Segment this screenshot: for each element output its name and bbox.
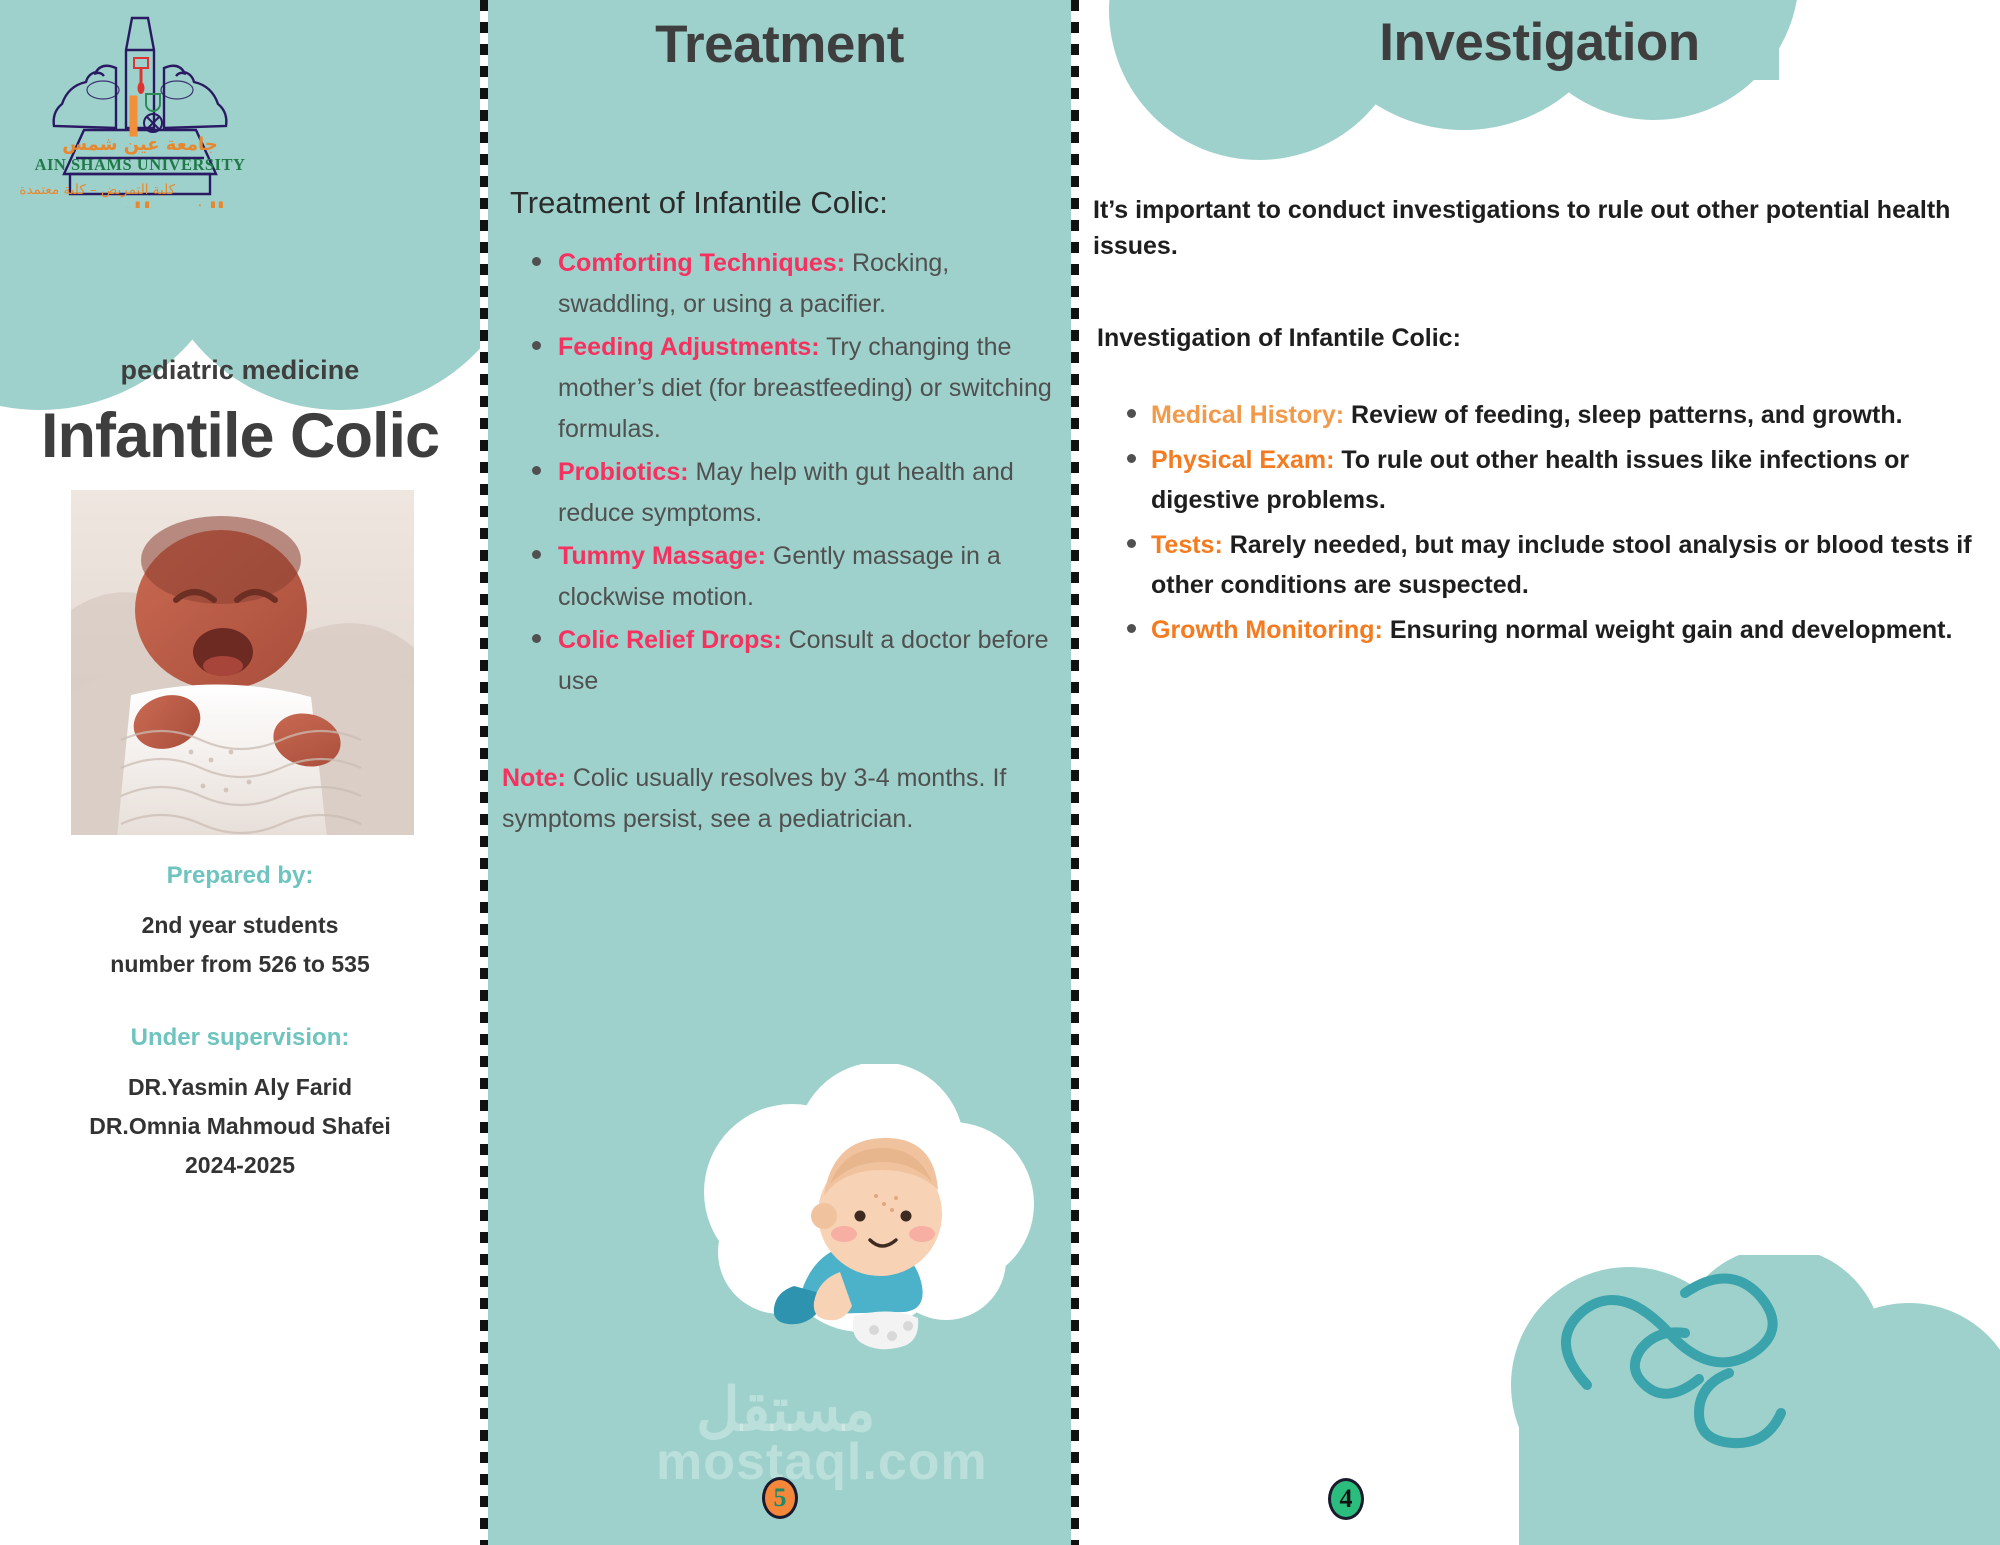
treatment-list: Comforting Techniques: Rocking, swaddlin… bbox=[530, 243, 1071, 702]
treatment-note: Note: Colic usually resolves by 3-4 mont… bbox=[502, 758, 1071, 840]
treatment-term: Feeding Adjustments: bbox=[558, 333, 820, 361]
investigation-text: Ensuring normal weight gain and developm… bbox=[1383, 616, 1953, 644]
treatment-term: Tummy Massage: bbox=[558, 542, 766, 570]
investigation-term: Tests: bbox=[1151, 531, 1223, 559]
list-item: Probiotics: May help with gut health and… bbox=[530, 452, 1053, 534]
svg-text:AIN SHAMS UNIVERSITY: AIN SHAMS UNIVERSITY bbox=[35, 155, 246, 174]
treatment-term: Comforting Techniques: bbox=[558, 249, 845, 277]
credits-spacer bbox=[0, 984, 480, 1024]
investigation-heading: Investigation bbox=[1079, 0, 2000, 73]
cover-photo bbox=[71, 490, 414, 835]
page-title: Infantile Colic bbox=[0, 400, 480, 472]
investigation-term: Medical History: bbox=[1151, 401, 1344, 429]
list-item: Growth Monitoring: Ensuring normal weigh… bbox=[1125, 610, 1990, 651]
investigation-intro: It’s important to conduct investigations… bbox=[1093, 193, 1994, 264]
svg-text:كلية التمريض – كلية معتمدة: كلية التمريض – كلية معتمدة bbox=[20, 182, 176, 198]
investigation-text: Rarely needed, but may include stool ana… bbox=[1151, 531, 1972, 600]
list-item: Comforting Techniques: Rocking, swaddlin… bbox=[530, 243, 1053, 325]
list-item: Medical History: Review of feeding, slee… bbox=[1125, 395, 1990, 436]
list-item: Colic Relief Drops: Consult a doctor bef… bbox=[530, 620, 1053, 702]
treatment-term: Probiotics: bbox=[558, 458, 689, 486]
page-number-badge: 5 bbox=[762, 1477, 798, 1519]
watermark-latin: mostaql.com bbox=[656, 1432, 988, 1492]
cover-credits: Prepared by: 2nd year students number fr… bbox=[0, 862, 480, 1185]
investigation-subheading: Investigation of Infantile Colic: bbox=[1097, 324, 2000, 353]
investigation-list: Medical History: Review of feeding, slee… bbox=[1125, 395, 1990, 650]
treatment-subheading: Treatment of Infantile Colic: bbox=[488, 185, 1071, 221]
list-item: Tummy Massage: Gently massage in a clock… bbox=[530, 536, 1053, 618]
note-label: Note: bbox=[502, 764, 566, 792]
investigation-term: Physical Exam: bbox=[1151, 446, 1334, 474]
treatment-panel: Treatment Treatment of Infantile Colic: … bbox=[488, 0, 1071, 1545]
supervisor-2: DR.Omnia Mahmoud Shafei bbox=[0, 1107, 480, 1146]
investigation-bottom-cloud bbox=[1479, 1255, 2000, 1545]
treatment-term: Colic Relief Drops: bbox=[558, 626, 782, 654]
prepared-by-line-2: number from 526 to 535 bbox=[0, 945, 480, 984]
academic-year: 2024-2025 bbox=[0, 1146, 480, 1185]
supervision-label: Under supervision: bbox=[0, 1024, 480, 1052]
svg-text:المعهد الفني للتمريض: المعهد الفني للتمريض bbox=[54, 199, 280, 208]
cover-kicker: pediatric medicine bbox=[0, 355, 480, 386]
cover-title-block: pediatric medicine Infantile Colic bbox=[0, 355, 480, 472]
investigation-term: Growth Monitoring: bbox=[1151, 616, 1383, 644]
baby-in-cloud-illustration bbox=[684, 1064, 1044, 1354]
list-item: Tests: Rarely needed, but may include st… bbox=[1125, 525, 1990, 606]
prepared-by-label: Prepared by: bbox=[0, 862, 480, 890]
page-number-badge: 4 bbox=[1328, 1478, 1364, 1520]
list-item: Physical Exam: To rule out other health … bbox=[1125, 440, 1990, 521]
svg-text:جامعة عين شمس: جامعة عين شمس bbox=[62, 134, 218, 155]
list-item: Feeding Adjustments: Try changing the mo… bbox=[530, 327, 1053, 450]
cover-panel: جامعة عين شمس AIN SHAMS UNIVERSITY كلية … bbox=[0, 0, 480, 1545]
investigation-panel: Investigation It’s important to conduct … bbox=[1079, 0, 2000, 1545]
prepared-by-line-1: 2nd year students bbox=[0, 906, 480, 945]
brochure-page: جامعة عين شمس AIN SHAMS UNIVERSITY كلية … bbox=[0, 0, 2000, 1545]
note-text: Colic usually resolves by 3-4 months. If… bbox=[502, 764, 1006, 833]
ain-shams-university-logo: جامعة عين شمس AIN SHAMS UNIVERSITY كلية … bbox=[20, 8, 280, 203]
investigation-text: Review of feeding, sleep patterns, and g… bbox=[1344, 401, 1902, 429]
treatment-heading: Treatment bbox=[488, 0, 1071, 75]
supervisor-1: DR.Yasmin Aly Farid bbox=[0, 1068, 480, 1107]
fold-divider-right bbox=[1071, 0, 1079, 1545]
fold-divider-left bbox=[480, 0, 488, 1545]
watermark-arabic: مستقل bbox=[696, 1375, 876, 1445]
